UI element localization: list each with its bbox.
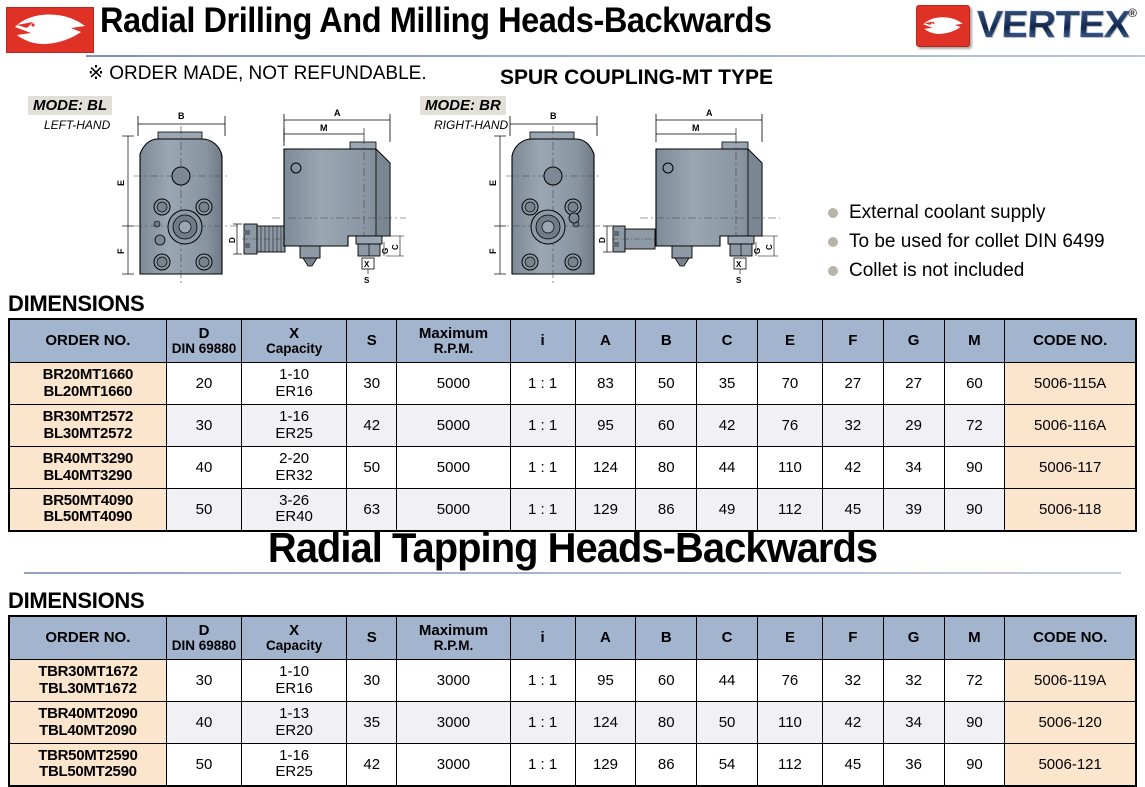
cell-f: 42	[822, 447, 883, 489]
cell-m: 72	[944, 660, 1005, 702]
col-rpm: MaximumR.P.M.	[397, 319, 510, 363]
svg-text:D: D	[228, 237, 237, 243]
cell-order-no: TBR50MT2590TBL50MT2590	[9, 744, 166, 786]
cell-d: 30	[166, 405, 241, 447]
cell-a: 83	[575, 363, 636, 405]
cell-e: 112	[757, 744, 822, 786]
svg-text:G: G	[753, 248, 762, 254]
cell-d: 40	[166, 702, 241, 744]
col-b: B	[636, 616, 697, 660]
cell-d: 40	[166, 447, 241, 489]
col-a: A	[575, 616, 636, 660]
cell-rpm: 5000	[397, 405, 510, 447]
cell-code-no: 5006-119A	[1005, 660, 1136, 702]
cell-s: 50	[347, 447, 397, 489]
page-title: Radial Drilling And Milling Heads-Backwa…	[100, 1, 772, 41]
list-item: Collet is not included	[828, 260, 1105, 282]
cell-code-no: 5006-121	[1005, 744, 1136, 786]
cell-m: 90	[944, 702, 1005, 744]
svg-text:C: C	[391, 244, 400, 250]
cell-b: 60	[636, 660, 697, 702]
col-g: G	[883, 319, 944, 363]
cell-f: 42	[822, 702, 883, 744]
bullet-label: External coolant supply	[849, 202, 1045, 224]
dimensions-table-drilling-milling: ORDER NO. DDIN 69880 XCapacity S Maximum…	[8, 318, 1137, 532]
cell-s: 30	[347, 660, 397, 702]
col-m: M	[944, 319, 1005, 363]
tapping-heads-divider	[24, 572, 1121, 574]
cell-s: 30	[347, 363, 397, 405]
table-header-row: ORDER NO. DDIN 69880 XCapacity S Maximum…	[9, 616, 1136, 660]
cell-x: 1-16ER25	[242, 744, 347, 786]
cell-rpm: 5000	[397, 447, 510, 489]
cell-f: 32	[822, 405, 883, 447]
cell-code-no: 5006-116A	[1005, 405, 1136, 447]
technical-drawings: MODE: BL LEFT-HAND MODE: BR RIGHT-HAND B…	[0, 92, 1145, 292]
cell-g: 34	[883, 447, 944, 489]
svg-text:G: G	[381, 248, 390, 254]
cell-g: 32	[883, 660, 944, 702]
col-c: C	[697, 319, 758, 363]
cell-c: 44	[697, 660, 758, 702]
spur-coupling-type-label: SPUR COUPLING-MT TYPE	[500, 66, 773, 90]
svg-text:B: B	[550, 111, 557, 121]
list-item: External coolant supply	[828, 202, 1105, 224]
vertex-eagle-icon	[916, 5, 970, 47]
col-d: DDIN 69880	[166, 319, 241, 363]
table-row: TBR40MT2090TBL40MT2090 40 1-13ER20 35 30…	[9, 702, 1136, 744]
svg-text:A: A	[706, 108, 713, 118]
cell-e: 70	[757, 363, 822, 405]
cell-i: 1 : 1	[510, 702, 575, 744]
cell-rpm: 3000	[397, 702, 510, 744]
cell-c: 50	[697, 702, 758, 744]
col-s: S	[347, 616, 397, 660]
cell-code-no: 5006-117	[1005, 447, 1136, 489]
cell-rpm: 5000	[397, 363, 510, 405]
cell-b: 80	[636, 702, 697, 744]
cell-m: 90	[944, 744, 1005, 786]
cell-order-no: BR20MT1660BL20MT1660	[9, 363, 166, 405]
feature-bullet-list: External coolant supply To be used for c…	[828, 202, 1105, 289]
page-header: Radial Drilling And Milling Heads-Backwa…	[0, 0, 1145, 58]
dimensions-table-tapping: ORDER NO. DDIN 69880 XCapacity S Maximum…	[8, 615, 1137, 787]
cell-a: 95	[575, 660, 636, 702]
cell-order-no: TBR30MT1672TBL30MT1672	[9, 660, 166, 702]
col-f: F	[822, 319, 883, 363]
col-rpm: MaximumR.P.M.	[397, 616, 510, 660]
cell-e: 110	[757, 702, 822, 744]
cell-m: 90	[944, 447, 1005, 489]
cell-a: 124	[575, 447, 636, 489]
cell-f: 45	[822, 744, 883, 786]
col-x: XCapacity	[242, 616, 347, 660]
cell-b: 80	[636, 447, 697, 489]
cell-x: 1-13ER20	[242, 702, 347, 744]
col-i: i	[510, 319, 575, 363]
bullet-label: Collet is not included	[849, 260, 1024, 282]
cell-d: 30	[166, 660, 241, 702]
cell-m: 72	[944, 405, 1005, 447]
table-row: TBR30MT1672TBL30MT1672 30 1-10ER16 30 30…	[9, 660, 1136, 702]
col-order-no: ORDER NO.	[9, 319, 166, 363]
cell-rpm: 3000	[397, 744, 510, 786]
col-code-no: CODE NO.	[1005, 319, 1136, 363]
header-divider	[86, 55, 1145, 57]
svg-text:S: S	[364, 276, 370, 285]
bullet-dot-icon	[828, 266, 838, 276]
cell-s: 42	[347, 405, 397, 447]
eagle-head-icon	[6, 7, 94, 53]
svg-text:F: F	[488, 248, 498, 254]
col-g: G	[883, 616, 944, 660]
svg-text:X: X	[736, 260, 742, 269]
cell-d: 50	[166, 744, 241, 786]
cell-rpm: 3000	[397, 660, 510, 702]
cell-c: 42	[697, 405, 758, 447]
cell-i: 1 : 1	[510, 744, 575, 786]
cell-i: 1 : 1	[510, 660, 575, 702]
cell-f: 32	[822, 660, 883, 702]
cell-x: 1-10ER16	[242, 363, 347, 405]
br-side-view-drawing: A M C G X S	[640, 106, 790, 286]
cell-d: 20	[166, 363, 241, 405]
list-item: To be used for collet DIN 6499	[828, 231, 1105, 253]
cell-g: 36	[883, 744, 944, 786]
table-row: BR40MT3290BL40MT3290 40 2-20ER32 50 5000…	[9, 447, 1136, 489]
svg-text:B: B	[178, 111, 185, 121]
cell-a: 124	[575, 702, 636, 744]
svg-text:F: F	[116, 248, 126, 254]
svg-text:M: M	[320, 123, 328, 133]
bl-side-view-drawing: A M C G X S	[272, 106, 412, 286]
cell-x: 2-20ER32	[242, 447, 347, 489]
bullet-label: To be used for collet DIN 6499	[849, 231, 1105, 253]
cell-x: 1-10ER16	[242, 660, 347, 702]
cell-code-no: 5006-120	[1005, 702, 1136, 744]
bullet-dot-icon	[828, 237, 838, 247]
cell-g: 27	[883, 363, 944, 405]
col-c: C	[697, 616, 758, 660]
vertex-wordmark: VERTEX	[975, 4, 1131, 47]
dimensions-heading-1: DIMENSIONS	[8, 291, 144, 317]
svg-text:E: E	[488, 180, 498, 186]
svg-text:A: A	[334, 108, 341, 118]
order-made-note: ※ ORDER MADE, NOT REFUNDABLE.	[88, 62, 427, 85]
cell-order-no: BR30MT2572BL30MT2572	[9, 405, 166, 447]
cell-c: 54	[697, 744, 758, 786]
cell-i: 1 : 1	[510, 405, 575, 447]
col-e: E	[757, 616, 822, 660]
col-f: F	[822, 616, 883, 660]
cell-b: 86	[636, 744, 697, 786]
cell-m: 60	[944, 363, 1005, 405]
svg-text:M: M	[692, 123, 700, 133]
cell-a: 95	[575, 405, 636, 447]
dimensions-heading-2: DIMENSIONS	[8, 588, 144, 614]
col-s: S	[347, 319, 397, 363]
vertex-brand-logo: VERTEX ®	[916, 4, 1137, 47]
cell-s: 42	[347, 744, 397, 786]
col-e: E	[757, 319, 822, 363]
cell-e: 76	[757, 660, 822, 702]
col-order-no: ORDER NO.	[9, 616, 166, 660]
cell-s: 35	[347, 702, 397, 744]
cell-g: 34	[883, 702, 944, 744]
cell-i: 1 : 1	[510, 447, 575, 489]
tapping-heads-title: Radial Tapping Heads-Backwards	[29, 524, 1117, 572]
svg-text:S: S	[736, 276, 742, 285]
col-a: A	[575, 319, 636, 363]
cell-f: 27	[822, 363, 883, 405]
table-row: BR20MT1660BL20MT1660 20 1-10ER16 30 5000…	[9, 363, 1136, 405]
col-code-no: CODE NO.	[1005, 616, 1136, 660]
cell-c: 35	[697, 363, 758, 405]
cell-g: 29	[883, 405, 944, 447]
svg-text:X: X	[364, 260, 370, 269]
table-row: BR30MT2572BL30MT2572 30 1-16ER25 42 5000…	[9, 405, 1136, 447]
cell-e: 76	[757, 405, 822, 447]
col-d: DDIN 69880	[166, 616, 241, 660]
col-i: i	[510, 616, 575, 660]
cell-x: 1-16ER25	[242, 405, 347, 447]
svg-text:D: D	[598, 237, 607, 243]
svg-text:C: C	[765, 244, 774, 250]
cell-c: 44	[697, 447, 758, 489]
col-b: B	[636, 319, 697, 363]
bullet-dot-icon	[828, 208, 838, 218]
table-row: TBR50MT2590TBL50MT2590 50 1-16ER25 42 30…	[9, 744, 1136, 786]
cell-b: 50	[636, 363, 697, 405]
cell-order-no: BR40MT3290BL40MT3290	[9, 447, 166, 489]
cell-i: 1 : 1	[510, 363, 575, 405]
svg-text:E: E	[116, 180, 126, 186]
cell-a: 129	[575, 744, 636, 786]
table-header-row: ORDER NO. DDIN 69880 XCapacity S Maximum…	[9, 319, 1136, 363]
cell-b: 60	[636, 405, 697, 447]
col-m: M	[944, 616, 1005, 660]
cell-code-no: 5006-115A	[1005, 363, 1136, 405]
cell-e: 110	[757, 447, 822, 489]
col-x: XCapacity	[242, 319, 347, 363]
cell-order-no: TBR40MT2090TBL40MT2090	[9, 702, 166, 744]
